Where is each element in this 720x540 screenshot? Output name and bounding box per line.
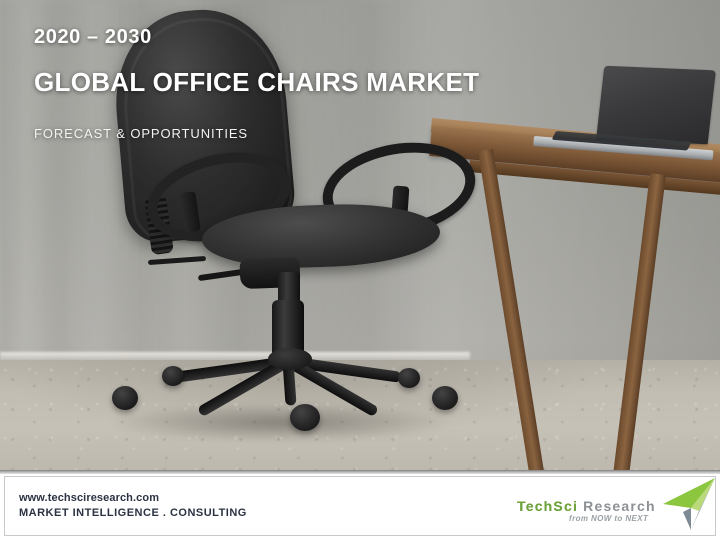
chair-caster	[112, 386, 138, 410]
footer-separator	[0, 470, 720, 474]
hero-photo: 2020 – 2030 GLOBAL OFFICE CHAIRS MARKET …	[0, 0, 720, 472]
chair-tilt-lever	[148, 256, 206, 265]
chair-floor-shadow	[110, 404, 450, 442]
footer-text-group: www.techsciresearch.com MARKET INTELLIGE…	[5, 491, 247, 521]
logo-brand-first: TechSci	[517, 498, 578, 514]
page-title: GLOBAL OFFICE CHAIRS MARKET	[34, 67, 634, 98]
techsci-research-logo[interactable]: TechSci Research from NOW to NEXT	[503, 478, 715, 534]
company-website[interactable]: www.techsciresearch.com	[19, 491, 247, 506]
company-tagline: MARKET INTELLIGENCE . CONSULTING	[19, 506, 247, 521]
chair-caster	[432, 386, 458, 410]
chair-caster	[162, 366, 184, 386]
chair-base-hub	[268, 348, 312, 370]
green-arrow-icon	[629, 478, 715, 530]
footer-bar: www.techsciresearch.com MARKET INTELLIGE…	[4, 476, 716, 536]
chair-caster	[398, 368, 420, 388]
report-years: 2020 – 2030	[34, 26, 634, 49]
chair-caster	[290, 404, 320, 431]
report-cover-page: 2020 – 2030 GLOBAL OFFICE CHAIRS MARKET …	[0, 0, 720, 540]
chair-height-lever	[198, 269, 244, 281]
report-subtitle: FORECAST & OPPORTUNITIES	[34, 126, 634, 141]
title-block: 2020 – 2030 GLOBAL OFFICE CHAIRS MARKET …	[34, 26, 634, 141]
